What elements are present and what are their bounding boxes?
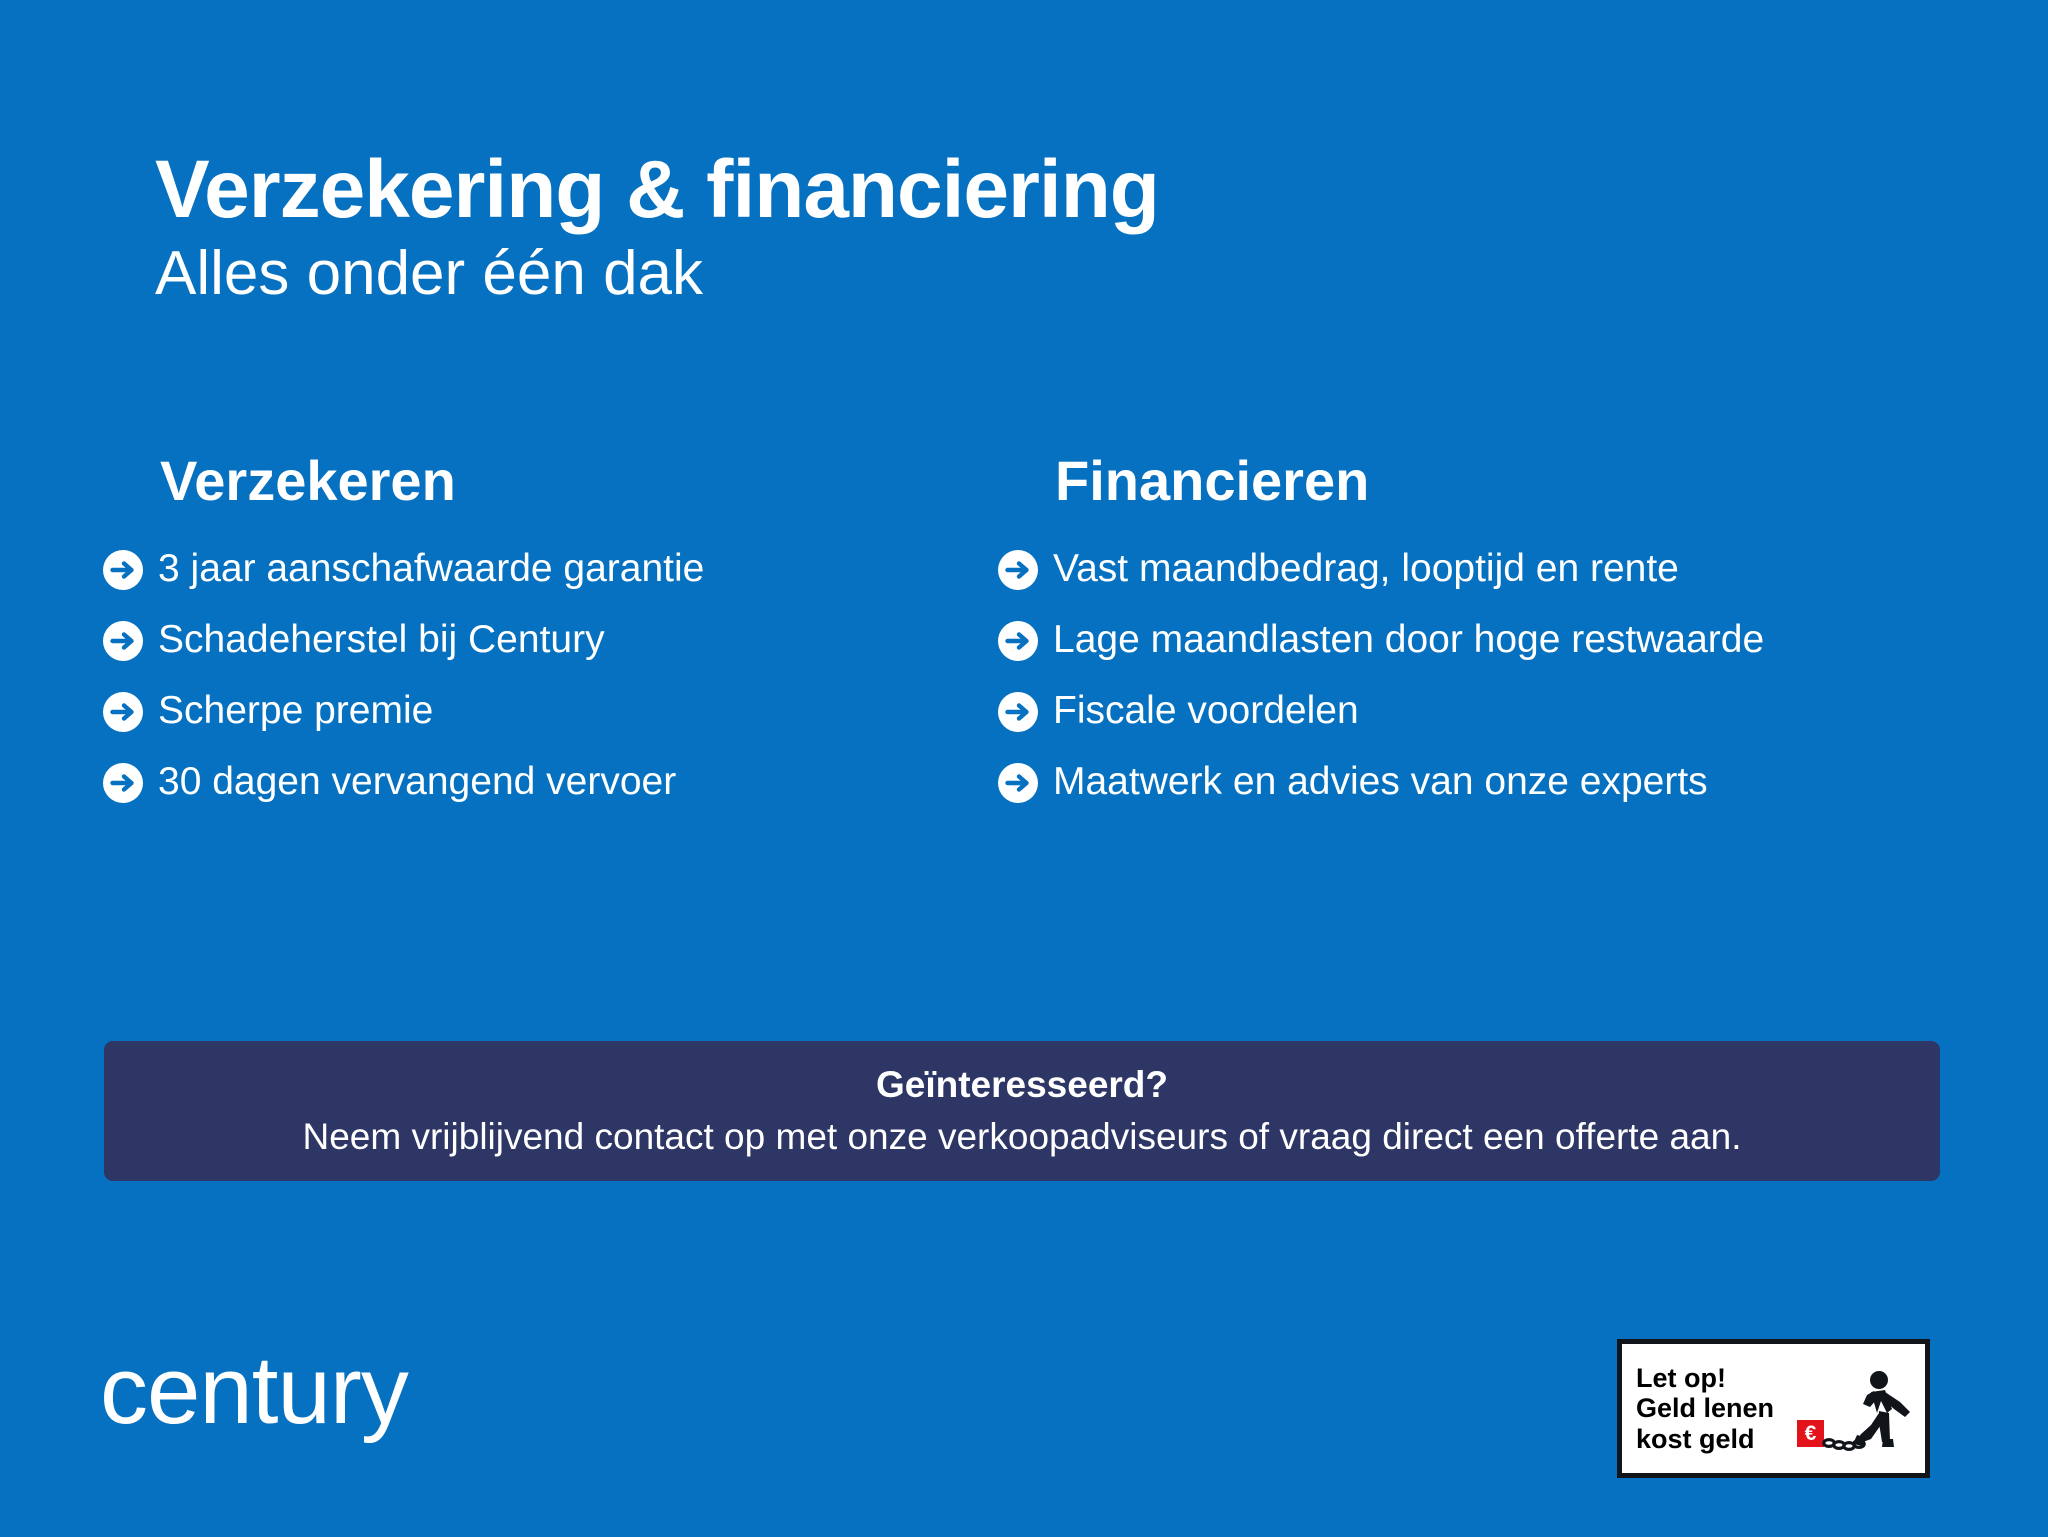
- list-item-label: Schadeherstel bij Century: [158, 619, 605, 662]
- cta-banner: Geïnteresseerd? Neem vrijblijvend contac…: [104, 1041, 1940, 1181]
- list-item-label: Fiscale voordelen: [1053, 690, 1359, 733]
- list-item-label: 30 dagen vervangend vervoer: [158, 761, 676, 804]
- list-item: Schadeherstel bij Century: [160, 616, 1020, 666]
- list-item: Fiscale voordelen: [1055, 687, 2015, 737]
- list-item-label: Scherpe premie: [158, 690, 433, 733]
- warning-text: Let op! Geld lenen kost geld: [1636, 1363, 1774, 1454]
- warning-line-3: kost geld: [1636, 1424, 1774, 1454]
- cta-title: Geïnteresseerd?: [876, 1063, 1168, 1107]
- cta-body: Neem vrijblijvend contact op met onze ve…: [303, 1115, 1742, 1159]
- slide-root: Verzekering & financiering Alles onder é…: [0, 0, 2048, 1537]
- warning-line-2: Geld lenen: [1636, 1393, 1774, 1423]
- list-item-label: Maatwerk en advies van onze experts: [1053, 761, 1708, 804]
- arrow-right-circle-icon: [102, 762, 144, 804]
- header: Verzekering & financiering Alles onder é…: [155, 148, 1855, 309]
- column-heading-financieren: Financieren: [1055, 452, 2015, 511]
- list-financieren: Vast maandbedrag, looptijd en rente Lage…: [1055, 545, 2015, 808]
- column-verzekeren: Verzekeren 3 jaar aanschafwaarde garanti…: [160, 452, 1020, 829]
- list-item-label: Lage maandlasten door hoge restwaarde: [1053, 619, 1764, 662]
- list-item: Maatwerk en advies van onze experts: [1055, 758, 2015, 808]
- list-item: Vast maandbedrag, looptijd en rente: [1055, 545, 2015, 595]
- warning-box-geld-lenen: Let op! Geld lenen kost geld €: [1617, 1339, 1930, 1478]
- page-subtitle: Alles onder één dak: [155, 238, 1855, 309]
- column-heading-verzekeren: Verzekeren: [160, 452, 1020, 511]
- arrow-right-circle-icon: [997, 762, 1039, 804]
- feature-columns: Verzekeren 3 jaar aanschafwaarde garanti…: [0, 452, 2048, 872]
- arrow-right-circle-icon: [102, 691, 144, 733]
- list-verzekeren: 3 jaar aanschafwaarde garantie Schadeher…: [160, 545, 1020, 808]
- arrow-right-circle-icon: [997, 620, 1039, 662]
- list-item-label: 3 jaar aanschafwaarde garantie: [158, 548, 704, 591]
- walking-person-with-ball-and-chain-icon: €: [1797, 1363, 1917, 1463]
- svg-text:€: €: [1805, 1422, 1817, 1445]
- list-item: Lage maandlasten door hoge restwaarde: [1055, 616, 2015, 666]
- page-title: Verzekering & financiering: [155, 148, 1855, 232]
- list-item: 3 jaar aanschafwaarde garantie: [160, 545, 1020, 595]
- arrow-right-circle-icon: [102, 620, 144, 662]
- arrow-right-circle-icon: [997, 549, 1039, 591]
- list-item-label: Vast maandbedrag, looptijd en rente: [1053, 548, 1679, 591]
- warning-line-1: Let op!: [1636, 1363, 1774, 1393]
- list-item: 30 dagen vervangend vervoer: [160, 758, 1020, 808]
- arrow-right-circle-icon: [997, 691, 1039, 733]
- arrow-right-circle-icon: [102, 549, 144, 591]
- list-item: Scherpe premie: [160, 687, 1020, 737]
- century-logo: century: [100, 1343, 408, 1439]
- column-financieren: Financieren Vast maandbedrag, looptijd e…: [1055, 452, 2015, 829]
